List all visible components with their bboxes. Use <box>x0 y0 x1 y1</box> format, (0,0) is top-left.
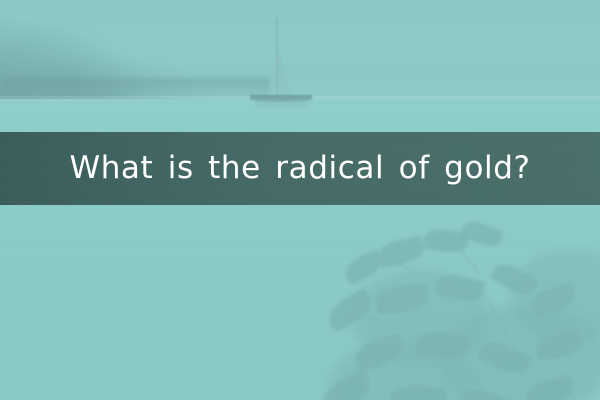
boat-hull <box>250 95 312 102</box>
sailboat-icon <box>248 18 314 102</box>
question-image-card: What is the radical of gold? <box>0 0 600 400</box>
boat-sail <box>277 38 292 100</box>
caption-band: What is the radical of gold? <box>0 132 600 205</box>
foliage-cluster <box>320 210 600 400</box>
question-text: What is the radical of gold? <box>69 153 530 184</box>
boat-reflection <box>256 102 306 107</box>
